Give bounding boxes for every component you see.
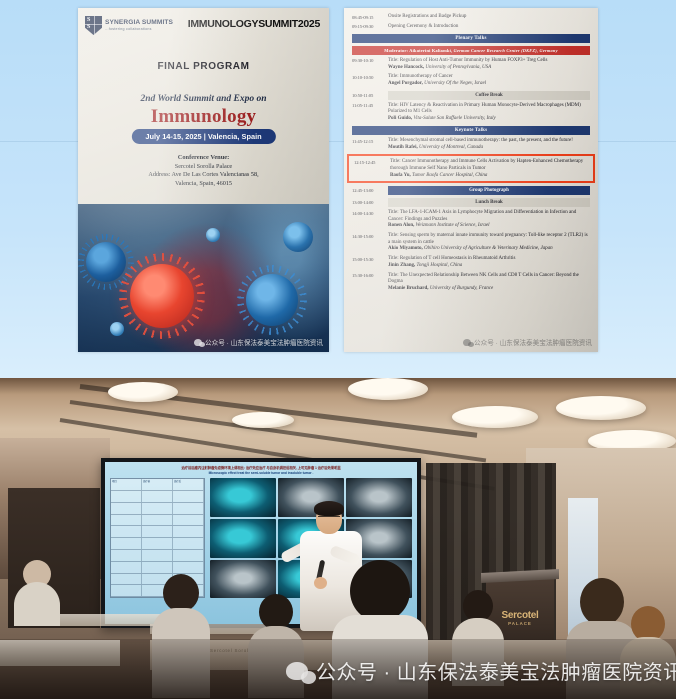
- schedule-body: Onsite Registrations and Badge Pickup: [388, 14, 590, 21]
- table-row: [111, 491, 204, 503]
- ceiling-light: [108, 382, 178, 402]
- synergia-summits-logo: S S SYNERGIA SUMMITS ...fostering collab…: [85, 16, 173, 35]
- table-cell: [142, 526, 173, 537]
- table-cell: [173, 550, 204, 561]
- moderator-band: Moderator: Aikaterini Kaliamki, German C…: [352, 46, 590, 55]
- venue-block: Conference Venue: Sercotel Sorolla Palac…: [78, 154, 329, 187]
- shield-letter-1: S: [87, 17, 90, 23]
- schedule-time: 10:10-10:50: [352, 74, 388, 87]
- speaker-name: Akio Miyamoto,: [388, 246, 424, 251]
- slide-title-cn: 治疗前后瘤内注射肿瘤免疫微环境上调相比: 治疗效应治疗 与自身机调控组相关, 上…: [110, 466, 412, 470]
- virus-particle-blue-large-icon: [246, 274, 298, 326]
- schedule-speaker: Melanie Bruchard, University of Burgundy…: [388, 286, 590, 293]
- schedule-title: Title: Mesenchymal stromal cell-based im…: [388, 138, 590, 145]
- virus-particle-blue-small-icon: [283, 222, 313, 252]
- schedule-speaker: Poli Guido, Vita-Salute San Raffaele Uni…: [388, 116, 590, 123]
- table-row: [111, 538, 204, 550]
- logo-brand: SYNERGIA SUMMITS: [105, 20, 173, 27]
- table-cell: 治疗前: [142, 479, 173, 490]
- table-cell: [173, 562, 204, 573]
- schedule-time: 09:30-10:10: [352, 58, 388, 71]
- schedule-body: Title: The LFA-1-ICAM-1 Axis in Lymphocy…: [388, 210, 590, 230]
- schedule-row: 11:05-11:45 Title: HIV Latency & Reactiv…: [352, 103, 590, 123]
- schedule-time: 14:30-15:00: [352, 233, 388, 253]
- bottom-watermark: 公众号 · 山东保法泰美宝法肿瘤医院资讯: [286, 656, 676, 685]
- schedule-body: Title: Regulation of T cell Homeostasis …: [388, 256, 590, 269]
- schedule-title: Title: The Unexpected Relationship Betwe…: [388, 273, 590, 286]
- schedule-row: 11:45-12:15 Title: Mesenchymal stromal c…: [352, 138, 590, 151]
- ct-scan-image: [210, 478, 276, 517]
- table-cell: [111, 491, 142, 502]
- venue-heading: Conference Venue:: [78, 154, 329, 161]
- speaker-affiliation: University of Pennsylvania, USA: [425, 65, 491, 70]
- table-cell: [111, 585, 142, 596]
- schedule-row: 10:10-10:50 Title: Immunotherapy of Canc…: [352, 74, 590, 87]
- schedule-title: Onsite Registrations and Badge Pickup: [388, 14, 590, 21]
- photo-watermark: 公众号 · 山东保法泰美宝法肿瘤医院资讯: [463, 337, 592, 347]
- ceiling-light: [348, 378, 428, 400]
- schedule-speaker: Ronen Alon, Weizmann Institute of Scienc…: [388, 223, 590, 230]
- table-cell: 项目: [111, 479, 142, 490]
- venue-line-2: Address: Ave De Las Cortes Valencianas 5…: [78, 171, 329, 178]
- shield-icon: S S: [85, 16, 102, 35]
- speaker-affiliation: Tongji Hospital, China: [417, 263, 463, 268]
- shield-letter-2: S: [87, 24, 90, 30]
- speaker-affiliation: Vita-Salute San Raffaele University, Ita…: [413, 116, 495, 121]
- audience-head: [259, 594, 293, 630]
- schedule-time: 10:50-11:05: [352, 93, 388, 98]
- table-row: [111, 562, 204, 574]
- shield-divider-vertical: [94, 16, 95, 35]
- wechat-icon: [463, 339, 471, 346]
- schedule-row: 15:30-16:00 Title: The Unexpected Relati…: [352, 273, 590, 293]
- wechat-icon: [194, 339, 202, 346]
- presenter-hair: [314, 501, 344, 516]
- speaker-name: Wayne Hancock,: [388, 65, 425, 70]
- schedule-row: 14:30-15:00 Title: Sensing sperm by mate…: [352, 233, 590, 253]
- schedule-speaker: Wayne Hancock, University of Pennsylvani…: [388, 65, 590, 72]
- logo-tagline: ...fostering collaborations: [105, 28, 173, 32]
- table-cell: [111, 503, 142, 514]
- date-badge: July 14-15, 2025 | Valencia, Spain: [131, 129, 275, 144]
- schedule-title: Title: The LFA-1-ICAM-1 Axis in Lymphocy…: [388, 210, 590, 223]
- highlighted-schedule-entry[interactable]: 12:15-12:45 Title: Cancer Immunotherapy …: [347, 154, 595, 183]
- table-cell: [173, 526, 204, 537]
- shield-divider-horizontal: [85, 24, 102, 25]
- speaker-name: Melanie Bruchard,: [388, 286, 430, 291]
- table-row: [111, 550, 204, 562]
- ceiling-light: [556, 396, 646, 420]
- speaker-name: Poli Guido,: [388, 116, 413, 121]
- cover-illustration: [78, 204, 329, 352]
- table-cell: [111, 538, 142, 549]
- schedule-body: Title: Regulation of Host Anti-Tumor Imm…: [388, 58, 590, 71]
- schedule-title: Title: Regulation of T cell Homeostasis …: [388, 256, 590, 263]
- schedule-time: 09:15-09:30: [352, 24, 388, 31]
- schedule-speaker: Akio Miyamoto, Obihiro University of Agr…: [388, 246, 590, 253]
- schedule-page: 08:45-09:15 Onsite Registrations and Bad…: [344, 8, 598, 352]
- speaker-affiliation: Tumor Baofa Cancer Hospital, China: [412, 173, 487, 178]
- ct-scan-image: [210, 519, 276, 558]
- schedule-row: 08:45-09:15 Onsite Registrations and Bad…: [352, 14, 590, 21]
- schedule-speaker: Jinin Zhang, Tongji Hospital, China: [388, 263, 590, 270]
- group-photo-label: Group Photograph: [388, 186, 590, 195]
- table-cell: [173, 515, 204, 526]
- table-cell: [142, 562, 173, 573]
- section-band-keynote: Keynote Talks: [352, 126, 590, 135]
- speaker-affiliation: University of Burgundy, France: [430, 286, 493, 291]
- cover-paper-area: S S SYNERGIA SUMMITS ...fostering collab…: [78, 8, 329, 204]
- speaker-name: Angel Porgador,: [388, 81, 424, 86]
- table-cell: [111, 550, 142, 561]
- break-row-lunch: 13:00-14:00 Lunch Break: [352, 198, 590, 207]
- cover-subtitle: 2nd World Summit and Expo on: [78, 94, 329, 104]
- photo-row: S S SYNERGIA SUMMITS ...fostering collab…: [0, 0, 676, 378]
- presenter-hand: [314, 577, 327, 589]
- schedule-body: Title: Mesenchymal stromal cell-based im…: [388, 138, 590, 151]
- schedule-time: 13:00-14:00: [352, 200, 388, 205]
- speaker-name: Jinin Zhang,: [388, 263, 417, 268]
- table-cell: [173, 538, 204, 549]
- conference-photo[interactable]: 治疗前后瘤内注射肿瘤免疫微环境上调相比: 治疗效应治疗 与自身机调控组相关, 上…: [0, 378, 676, 699]
- schedule-time: 12:15-12:45: [354, 159, 390, 179]
- audience-head: [580, 578, 624, 626]
- speaker-affiliation: University of Montreal, Canada: [419, 145, 483, 150]
- schedule-title: Title: Cancer Immunotherapy and Immune C…: [390, 159, 588, 172]
- speaker-name: Baofa Yu,: [390, 173, 412, 178]
- table-cell: [111, 562, 142, 573]
- break-row-coffee: 10:50-11:05 Coffee Break: [352, 91, 590, 100]
- table-cell: [173, 491, 204, 502]
- virus-particle-tiny-icon: [206, 228, 220, 242]
- break-label: Coffee Break: [388, 91, 590, 100]
- schedule-speaker: Baofa Yu, Tumor Baofa Cancer Hospital, C…: [390, 173, 588, 180]
- presenter-glasses: [318, 516, 340, 520]
- schedule-time: 08:45-09:15: [352, 14, 388, 21]
- speaker-affiliation: Weizmann Institute of Science, Israel: [416, 223, 490, 228]
- virus-particle-blue-icon: [86, 242, 126, 282]
- slide-title-en: Microscopic effect treat the semi-solubl…: [110, 471, 412, 475]
- speaker-affiliation: Obihiro University of Agriculture & Vete…: [424, 246, 553, 251]
- watermark-text: 公众号 · 山东保法泰美宝法肿瘤医院资讯: [316, 656, 676, 685]
- table-row: [111, 503, 204, 515]
- logo-text-block: SYNERGIA SUMMITS ...fostering collaborat…: [105, 20, 173, 31]
- virus-particle-tiny-icon: [110, 322, 124, 336]
- schedule-speaker: Moutih Rafei, University of Montreal, Ca…: [388, 145, 590, 152]
- table-row: 项目治疗前治疗后: [111, 479, 204, 491]
- virus-particle-red-icon: [130, 264, 194, 328]
- schedule-row: 09:30-10:10 Title: Regulation of Host An…: [352, 58, 590, 71]
- schedule-title: Title: Sensing sperm by maternal innate …: [388, 233, 590, 246]
- schedule-body: Title: The Unexpected Relationship Betwe…: [388, 273, 590, 293]
- speaker-name: Ronen Alon,: [388, 223, 416, 228]
- photo-watermark: 公众号 · 山东保法泰美宝法肿瘤医院资讯: [194, 337, 323, 347]
- schedule-title: Opening Ceremony & Introduction: [388, 24, 590, 31]
- speaker-name: Moutih Rafei,: [388, 145, 419, 150]
- audience-member: [14, 560, 60, 626]
- program-label: FINAL PROGRAM: [78, 61, 329, 72]
- program-schedule-photo[interactable]: 08:45-09:15 Onsite Registrations and Bad…: [344, 8, 598, 352]
- schedule-row: 09:15-09:30 Opening Ceremony & Introduct…: [352, 24, 590, 31]
- table-cell: 治疗后: [173, 479, 204, 490]
- table-cell: [111, 515, 142, 526]
- break-label: Lunch Break: [388, 198, 590, 207]
- section-band-plenary: Plenary Talks: [352, 34, 590, 43]
- schedule-body: Title: Immunotherapy of Cancer Angel Por…: [388, 74, 590, 87]
- schedule-title: Title: HIV Latency & Reactivation in Pri…: [388, 103, 590, 116]
- wechat-icon: [286, 662, 308, 680]
- schedule-row: 15:00-15:30 Title: Regulation of T cell …: [352, 256, 590, 269]
- schedule-title: Title: Immunotherapy of Cancer: [388, 74, 590, 81]
- moderator-label: Moderator: Aikaterini Kaliamki,: [384, 48, 453, 53]
- schedule-body: Title: Cancer Immunotherapy and Immune C…: [390, 159, 588, 179]
- table-cell: [173, 503, 204, 514]
- speaker-affiliation: University Of the Negev, Israel: [424, 81, 486, 86]
- table-cell: [142, 538, 173, 549]
- watermark-text: 公众号 · 山东保法泰美宝法肿瘤医院资讯: [474, 337, 592, 347]
- schedule-body: Title: Sensing sperm by maternal innate …: [388, 233, 590, 253]
- schedule-speaker: Angel Porgador, University Of the Negev,…: [388, 81, 590, 88]
- schedule-title: Title: Regulation of Host Anti-Tumor Imm…: [388, 58, 590, 65]
- schedule-row: 14:00-14:30 Title: The LFA-1-ICAM-1 Axis…: [352, 210, 590, 230]
- table-cell: [142, 503, 173, 514]
- ceiling-light: [452, 406, 538, 428]
- group-photo-row: 12:45-13:00 Group Photograph: [352, 186, 590, 195]
- schedule-time: 12:45-13:00: [352, 188, 388, 193]
- table-row: [111, 515, 204, 527]
- schedule-body: Opening Ceremony & Introduction: [388, 24, 590, 31]
- table-cell: [142, 491, 173, 502]
- venue-line-1: Sercotel Sorolla Palace: [78, 163, 329, 170]
- schedule-time: 11:05-11:45: [352, 103, 388, 123]
- cover-title: Immunology: [78, 106, 329, 128]
- watermark-text: 公众号 · 山东保法泰美宝法肿瘤医院资讯: [205, 337, 323, 347]
- lectern-brand: Sercotel: [501, 610, 538, 621]
- moderator-affiliation: German Cancer Research Center (DKFZ), Ge…: [454, 48, 558, 53]
- audience-head: [163, 574, 199, 612]
- program-cover-photo[interactable]: S S SYNERGIA SUMMITS ...fostering collab…: [78, 8, 329, 352]
- venue-line-3: Valencia, Spain, 46015: [78, 180, 329, 187]
- table-cell: [142, 550, 173, 561]
- event-tag: IMMUNOLOGYSUMMIT2025: [188, 18, 320, 30]
- table-row: [111, 526, 204, 538]
- ceiling-light: [232, 412, 294, 428]
- schedule-time: 15:00-15:30: [352, 256, 388, 269]
- audience-body: [14, 582, 60, 626]
- table-cell: [111, 574, 142, 585]
- ct-scan-image: [210, 560, 276, 599]
- schedule-time: 11:45-12:15: [352, 138, 388, 151]
- schedule-body: Title: HIV Latency & Reactivation in Pri…: [388, 103, 590, 123]
- table-cell: [111, 526, 142, 537]
- table-cell: [142, 515, 173, 526]
- program-cover: S S SYNERGIA SUMMITS ...fostering collab…: [78, 8, 329, 352]
- schedule-time: 14:00-14:30: [352, 210, 388, 230]
- audience-head: [350, 560, 410, 622]
- audience-desk: [60, 614, 160, 626]
- schedule-time: 15:30-16:00: [352, 273, 388, 293]
